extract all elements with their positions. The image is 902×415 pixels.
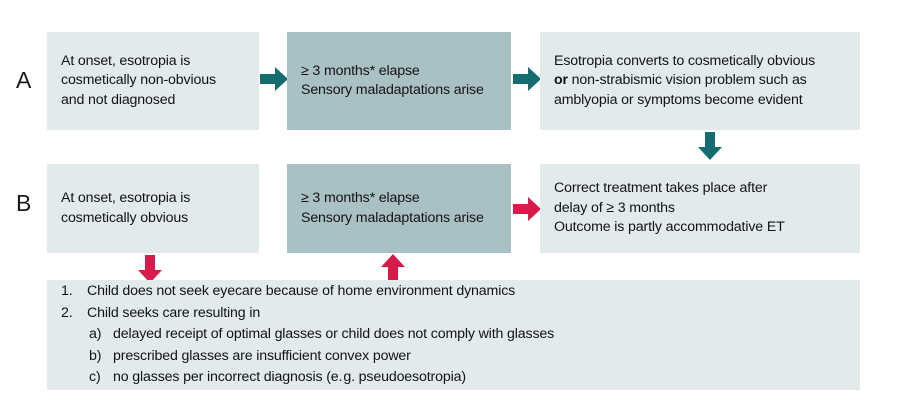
- list-item-marker: b): [89, 346, 113, 368]
- list-item-text: Child seeks care resulting in: [87, 303, 260, 325]
- box-a-elapse-line2: Sensory maladaptations arise: [301, 81, 497, 101]
- list-item-text: delayed receipt of optimal glasses or ch…: [113, 324, 554, 346]
- box-b-treatment-line2: delay of ≥ 3 months: [554, 199, 846, 219]
- arrow-down-red: [137, 255, 163, 283]
- box-a-onset-line2: cosmetically non-obvious: [61, 71, 245, 91]
- box-b-onset-line1: At onset, esotropia is: [61, 189, 245, 209]
- list-item-marker: c): [89, 367, 113, 389]
- list-item-text: no glasses per incorrect diagnosis (e. g…: [113, 367, 466, 389]
- box-b-treatment: Correct treatment takes place after dela…: [540, 164, 860, 253]
- list-item-text: Child does not seek eyecare because of h…: [87, 281, 515, 303]
- box-b-treatment-line1: Correct treatment takes place after: [554, 179, 846, 199]
- list-item: b) prescribed glasses are insufficient c…: [59, 346, 860, 368]
- list-item: c) no glasses per incorrect diagnosis (e…: [59, 367, 860, 389]
- box-a-converts: Esotropia converts to cosmetically obvio…: [540, 32, 860, 130]
- arrow-right-teal-a1: [260, 66, 288, 92]
- diagram-canvas: A At onset, esotropia is cosmetically no…: [0, 0, 902, 415]
- box-a-onset: At onset, esotropia is cosmetically non-…: [47, 32, 259, 130]
- box-b-elapse-line2: Sensory maladaptations arise: [301, 209, 497, 229]
- box-reasons-list: 1. Child does not seek eyecare because o…: [47, 280, 860, 390]
- arrow-down-teal: [697, 132, 723, 160]
- box-a-converts-line2-rest: non-strabismic vision problem such as: [568, 72, 807, 88]
- list-item: 1. Child does not seek eyecare because o…: [59, 281, 860, 303]
- box-b-onset: At onset, esotropia is cosmetically obvi…: [47, 164, 259, 253]
- box-b-elapse: ≥ 3 months* elapse Sensory maladaptation…: [287, 164, 511, 253]
- list-item-text: prescribed glasses are insufficient conv…: [113, 346, 411, 368]
- list-item: a) delayed receipt of optimal glasses or…: [59, 324, 860, 346]
- box-a-converts-line3: amblyopia or symptoms become evident: [554, 91, 846, 111]
- arrow-right-red-b: [513, 196, 541, 222]
- box-a-onset-line1: At onset, esotropia is: [61, 52, 245, 72]
- box-a-onset-line3: and not diagnosed: [61, 91, 245, 111]
- box-b-onset-line2: cosmetically obvious: [61, 209, 245, 229]
- arrow-up-red: [380, 254, 406, 282]
- box-a-converts-line2: or non-strabismic vision problem such as: [554, 71, 846, 91]
- box-b-treatment-line3: Outcome is partly accommodative ET: [554, 218, 846, 238]
- list-item: 2. Child seeks care resulting in: [59, 303, 860, 325]
- list-item-marker: a): [89, 324, 113, 346]
- box-b-elapse-line1: ≥ 3 months* elapse: [301, 189, 497, 209]
- list-item-marker: 1.: [59, 281, 87, 303]
- list-item-marker: 2.: [59, 303, 87, 325]
- box-a-elapse-line1: ≥ 3 months* elapse: [301, 62, 497, 82]
- arrow-right-teal-a2: [513, 66, 541, 92]
- reasons-list: 1. Child does not seek eyecare because o…: [47, 281, 860, 389]
- box-a-converts-or: or: [554, 72, 568, 88]
- row-label-b: B: [16, 192, 31, 215]
- box-a-elapse: ≥ 3 months* elapse Sensory maladaptation…: [287, 32, 511, 130]
- box-a-converts-line1: Esotropia converts to cosmetically obvio…: [554, 52, 846, 72]
- row-label-a: A: [16, 69, 31, 92]
